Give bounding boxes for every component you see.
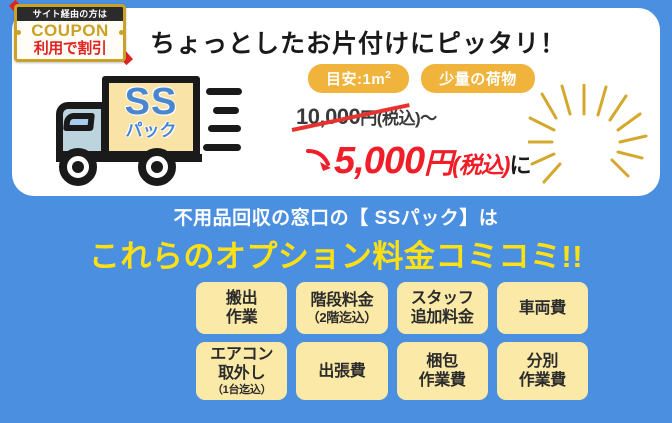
new-price-tax: (税込) — [452, 152, 509, 178]
subtitle-text: 不用品回収の窓口の【 SSパック】は — [0, 203, 672, 230]
option-line-1: エアコン — [210, 345, 273, 364]
coupon-word-text: COUPON — [17, 22, 123, 40]
coupon-body: サイト経由の方は COUPON 利用で割引 — [14, 4, 126, 62]
option-line-1: 搬出 — [226, 289, 257, 308]
option-box: 階段料金 （2階迄込） — [296, 282, 387, 334]
coupon-sub-text: 利用で割引 — [17, 40, 123, 57]
new-price-suffix: に — [509, 153, 530, 178]
option-line-2: （2階迄込） — [307, 310, 377, 326]
motion-line-icon — [206, 88, 242, 95]
option-line-1: 車両費 — [519, 299, 566, 318]
option-line-2: 作業 — [226, 308, 257, 327]
option-line-1: 出張費 — [318, 362, 365, 381]
feature-pill-volume: 少量の荷物 — [421, 64, 535, 93]
option-line-2: 追加料金 — [411, 308, 474, 327]
option-line-2: 取外し — [218, 364, 265, 383]
option-line-2: 作業費 — [419, 371, 466, 390]
option-box: 分別 作業費 — [497, 342, 588, 400]
options-row-1: 搬出 作業 階段料金 （2階迄込） スタッフ 追加料金 車両費 — [196, 282, 588, 334]
motion-line-icon — [208, 125, 241, 132]
headline-text: ちょっとしたお片付けにピッタリ！ — [150, 24, 566, 60]
motion-line-icon — [203, 144, 241, 151]
feature-pill-volume-label: 少量の荷物 — [439, 71, 517, 88]
feature-pill-area-sup: 2 — [385, 70, 391, 81]
option-box: 搬出 作業 — [196, 282, 287, 334]
coupon-badge[interactable]: サイト経由の方は COUPON 利用で割引 — [14, 4, 126, 62]
new-price-yen: 円 — [424, 148, 452, 180]
option-box: 梱包 作業費 — [397, 342, 488, 400]
truck-plan-label: パック — [108, 122, 194, 140]
options-row-2: エアコン 取外し （1台迄込） 出張費 梱包 作業費 分別 作業費 — [196, 342, 588, 400]
feature-pill-area-label: 目安:1m — [326, 71, 385, 88]
option-box: スタッフ 追加料金 — [397, 282, 488, 334]
sparkle-decoration — [528, 84, 658, 192]
option-box: 車両費 — [497, 282, 588, 334]
main-heading-text: これらのオプション料金コミコミ!! — [0, 231, 672, 276]
option-line-3: （1台迄込） — [212, 383, 271, 397]
option-line-1: スタッフ — [411, 289, 474, 308]
price-arrow-icon — [306, 148, 336, 174]
coupon-header-text: サイト経由の方は — [17, 7, 123, 21]
truck-wheel-rear-icon — [138, 148, 176, 186]
option-line-1: 梱包 — [426, 352, 457, 371]
option-line-1: 階段料金 — [310, 291, 373, 310]
truck-window — [63, 113, 95, 131]
option-line-1: 分別 — [527, 352, 558, 371]
feature-pill-area: 目安:1m2 — [308, 64, 409, 93]
option-box: エアコン 取外し （1台迄込） — [196, 342, 287, 400]
truck-wheel-front-icon — [59, 148, 97, 186]
truck-plan-code: SS — [108, 82, 194, 122]
feature-pill-group: 目安:1m2 少量の荷物 — [308, 64, 535, 93]
new-price: 5,000円(税込)に — [334, 140, 530, 183]
coupon-dot-right-icon — [119, 30, 124, 35]
truck-illustration: SS パック — [56, 74, 206, 186]
option-box: 出張費 — [296, 342, 387, 400]
option-line-2: 作業費 — [519, 371, 566, 390]
included-options-grid: 搬出 作業 階段料金 （2階迄込） スタッフ 追加料金 車両費 エアコン 取外し… — [196, 282, 588, 408]
motion-line-icon — [213, 107, 239, 114]
coupon-dot-left-icon — [16, 30, 21, 35]
new-price-amount: 5,000 — [334, 140, 424, 182]
